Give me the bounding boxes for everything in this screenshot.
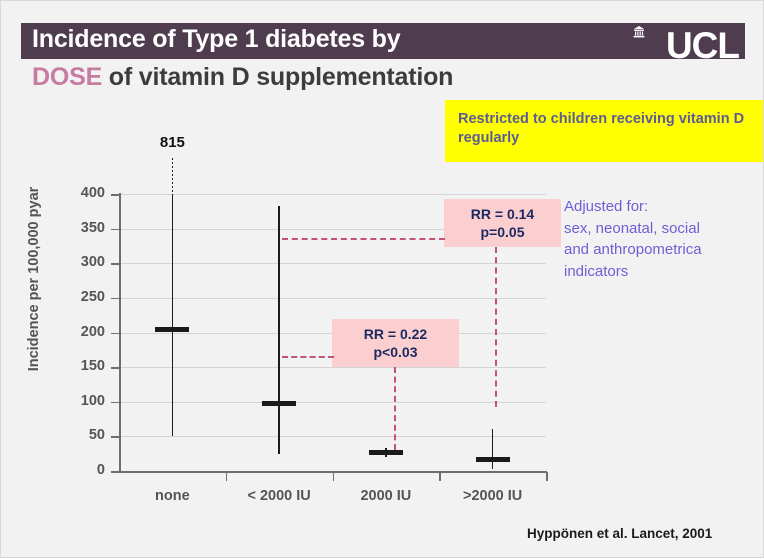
x-axis-tick bbox=[546, 472, 548, 481]
y-axis-tick-label: 50 bbox=[59, 427, 105, 443]
y-axis-tick bbox=[111, 333, 120, 335]
y-axis-tick-label: 300 bbox=[59, 254, 105, 270]
rr-box-over2000iu-line2: p=0.05 bbox=[444, 223, 561, 241]
y-axis-tick bbox=[111, 194, 120, 196]
y-axis-tick bbox=[111, 436, 120, 438]
rr-box-2000iu: RR = 0.22 p<0.03 bbox=[332, 319, 459, 367]
x-axis-tick-label: 2000 IU bbox=[326, 488, 446, 504]
y-axis-tick bbox=[111, 471, 120, 473]
y-axis-tick-label: 250 bbox=[59, 289, 105, 305]
x-axis-tick bbox=[226, 472, 228, 481]
error-bar bbox=[278, 206, 280, 454]
x-axis-tick-label: >2000 IU bbox=[433, 488, 553, 504]
y-axis-tick bbox=[111, 229, 120, 231]
y-axis-tick-label: 150 bbox=[59, 358, 105, 374]
x-axis-tick-label: < 2000 IU bbox=[219, 488, 339, 504]
y-axis-tick bbox=[111, 367, 120, 369]
point-estimate-marker bbox=[262, 401, 296, 406]
error-bar-offscale bbox=[172, 158, 174, 194]
rr-box-2000iu-line2: p<0.03 bbox=[332, 343, 459, 361]
gridline bbox=[119, 298, 546, 299]
y-axis-tick bbox=[111, 402, 120, 404]
y-axis-tick bbox=[111, 298, 120, 300]
y-axis-tick-label: 200 bbox=[59, 324, 105, 340]
x-axis-tick bbox=[333, 472, 335, 481]
rr-box-over2000iu-line1: RR = 0.14 bbox=[444, 205, 561, 223]
ref-line-2000iu-horizontal bbox=[282, 356, 334, 358]
gridline bbox=[119, 402, 546, 403]
offscale-value-label: 815 bbox=[132, 134, 212, 151]
slide-canvas: Incidence of Type 1 diabetes by DOSE of … bbox=[0, 0, 764, 558]
ref-line-2000iu-vertical bbox=[394, 367, 396, 450]
gridline bbox=[119, 263, 546, 264]
y-axis-tick-label: 0 bbox=[59, 462, 105, 478]
gridline bbox=[119, 194, 546, 195]
point-estimate-marker bbox=[369, 450, 403, 455]
x-axis-tick-label: none bbox=[112, 488, 232, 504]
incidence-chart: 050100150200250300350400 Incidence per 1… bbox=[1, 1, 764, 559]
y-axis-tick-label: 100 bbox=[59, 393, 105, 409]
y-axis-tick-label: 400 bbox=[59, 185, 105, 201]
rr-box-over2000iu: RR = 0.14 p=0.05 bbox=[444, 199, 561, 247]
y-axis-tick bbox=[111, 263, 120, 265]
x-axis-tick bbox=[439, 472, 441, 481]
gridline bbox=[119, 367, 546, 368]
gridline bbox=[119, 436, 546, 437]
point-estimate-marker bbox=[476, 457, 510, 462]
ref-line-over2000iu-vertical bbox=[495, 247, 497, 407]
point-estimate-marker bbox=[155, 327, 189, 332]
y-axis-tick-labels: 050100150200250300350400 bbox=[49, 1, 105, 559]
ref-line-over2000iu-horizontal bbox=[282, 238, 445, 240]
error-bar bbox=[492, 429, 494, 468]
y-axis-title: Incidence per 100,000 pyar bbox=[26, 164, 42, 394]
error-bar bbox=[172, 194, 174, 436]
rr-box-2000iu-line1: RR = 0.22 bbox=[332, 325, 459, 343]
y-axis-tick-label: 350 bbox=[59, 220, 105, 236]
